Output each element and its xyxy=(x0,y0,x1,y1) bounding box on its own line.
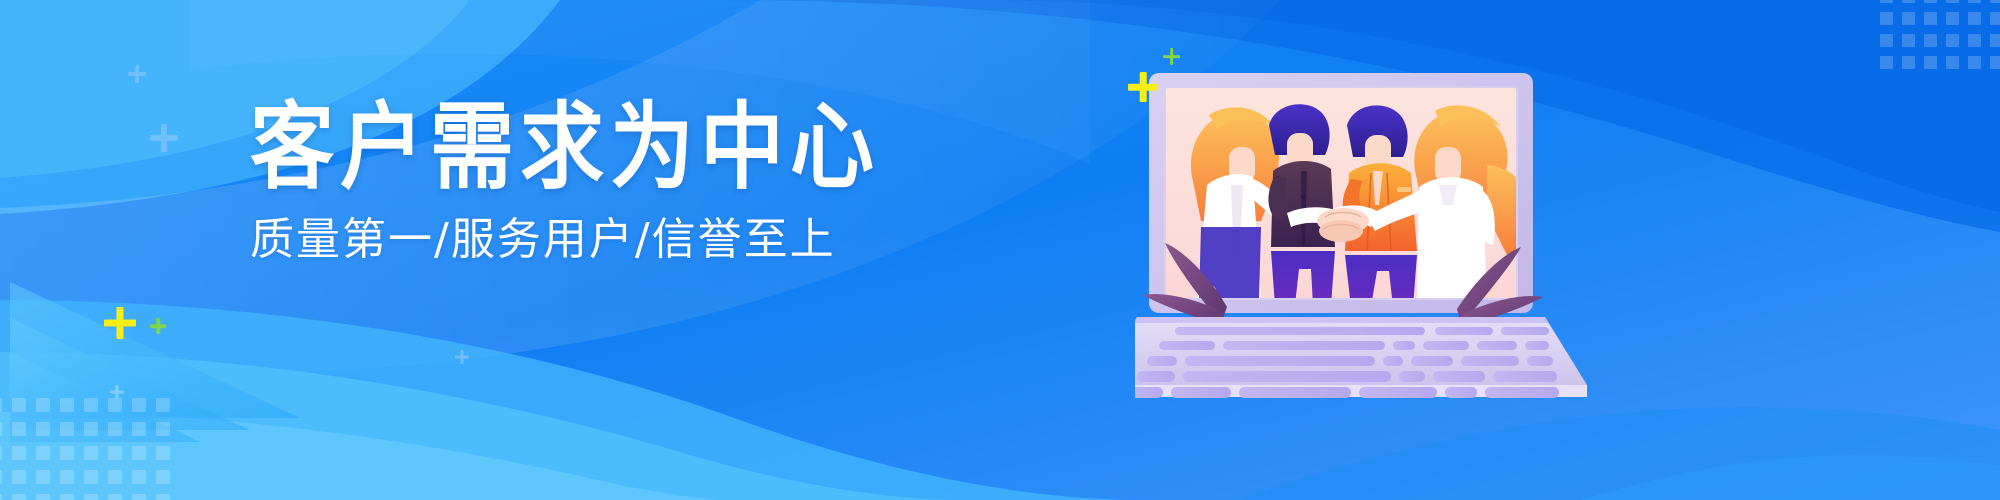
dot xyxy=(36,494,50,500)
plus-bottom-left-small-icon xyxy=(150,318,166,334)
dot xyxy=(60,398,74,412)
dot xyxy=(12,422,26,436)
dot-grid-top-right xyxy=(1880,0,2000,78)
dot xyxy=(12,470,26,484)
dot xyxy=(132,470,146,484)
dot xyxy=(1990,34,2000,47)
dot xyxy=(0,494,2,500)
dot xyxy=(1924,56,1937,69)
dot xyxy=(156,470,170,484)
dot xyxy=(60,494,74,500)
dot xyxy=(1968,34,1981,47)
headline-block: 客户需求为中心 质量第一/服务用户/信誉至上 xyxy=(250,100,1010,300)
dot-grid-bottom-left xyxy=(0,398,180,500)
dot xyxy=(84,398,98,412)
dot xyxy=(1924,0,1937,3)
dot xyxy=(0,422,2,436)
plus-top-left-small-icon xyxy=(128,65,146,83)
dot xyxy=(132,422,146,436)
dot xyxy=(1880,0,1893,3)
dot xyxy=(1990,12,2000,25)
plus-bottom-left-big-icon xyxy=(104,307,136,339)
plus-left-mid-icon xyxy=(150,124,178,152)
dot xyxy=(1924,34,1937,47)
dot xyxy=(156,446,170,460)
dot xyxy=(1990,0,2000,3)
dot xyxy=(156,422,170,436)
dot xyxy=(12,398,26,412)
dot xyxy=(84,494,98,500)
dot xyxy=(132,398,146,412)
dot xyxy=(84,470,98,484)
dot xyxy=(108,470,122,484)
dot xyxy=(36,470,50,484)
dot xyxy=(1946,56,1959,69)
dot xyxy=(36,446,50,460)
dot xyxy=(0,446,2,460)
promo-banner: 客户需求为中心 质量第一/服务用户/信誉至上 xyxy=(0,0,2000,500)
dot xyxy=(156,398,170,412)
dot xyxy=(1946,0,1959,3)
plus-bottom-center-icon xyxy=(455,350,469,364)
dot xyxy=(132,494,146,500)
dot xyxy=(156,494,170,500)
dot xyxy=(1946,12,1959,25)
dot xyxy=(36,422,50,436)
dot xyxy=(1968,0,1981,3)
dot xyxy=(1946,34,1959,47)
dot xyxy=(1902,34,1915,47)
dot xyxy=(108,446,122,460)
dot xyxy=(1902,0,1915,3)
laptop-illustration xyxy=(1135,55,1605,405)
dot xyxy=(84,446,98,460)
dot xyxy=(108,494,122,500)
dot xyxy=(1968,56,1981,69)
dot xyxy=(12,494,26,500)
dot xyxy=(1990,56,2000,69)
plus-near-laptop-small-icon xyxy=(1163,48,1180,65)
dot xyxy=(132,446,146,460)
dot xyxy=(36,398,50,412)
plus-bottom-left-faint-icon xyxy=(110,385,124,399)
page-title: 客户需求为中心 xyxy=(250,100,1010,194)
dot xyxy=(60,446,74,460)
dot xyxy=(1924,12,1937,25)
dot xyxy=(108,398,122,412)
dot xyxy=(108,422,122,436)
dot xyxy=(84,422,98,436)
dot xyxy=(1880,12,1893,25)
dot xyxy=(1902,12,1915,25)
dot xyxy=(0,398,2,412)
dot xyxy=(0,470,2,484)
plus-near-laptop-big-icon xyxy=(1128,72,1158,102)
dot xyxy=(1968,12,1981,25)
dot xyxy=(60,422,74,436)
page-subtitle: 质量第一/服务用户/信誉至上 xyxy=(250,218,1010,262)
dot xyxy=(1880,56,1893,69)
dot xyxy=(60,470,74,484)
dot xyxy=(12,446,26,460)
dot xyxy=(1880,34,1893,47)
dot xyxy=(1902,56,1915,69)
